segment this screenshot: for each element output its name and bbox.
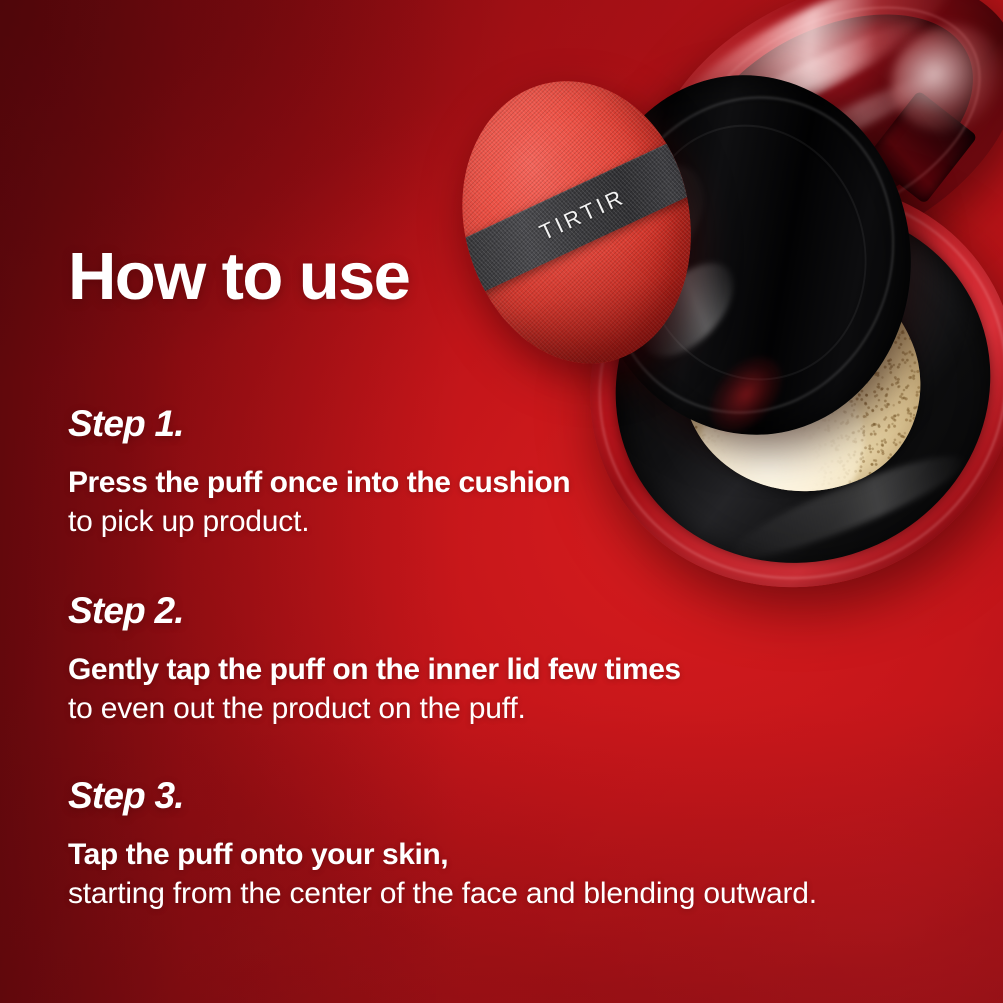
how-to-use-slide: TIRTIR How to use Step 1. Press the puff…	[0, 0, 1003, 1003]
step-3-headline: Tap the puff onto your skin,	[68, 835, 817, 874]
step-3-subline: starting from the center of the face and…	[68, 874, 817, 913]
step-1-subline: to pick up product.	[68, 502, 570, 541]
step-2-block: Step 2. Gently tap the puff on the inner…	[68, 592, 681, 728]
step-1-label: Step 1.	[68, 405, 570, 444]
step-1-headline: Press the puff once into the cushion	[68, 463, 570, 502]
step-2-label: Step 2.	[68, 592, 681, 631]
step-1-block: Step 1. Press the puff once into the cus…	[68, 405, 570, 541]
step-2-subline: to even out the product on the puff.	[68, 689, 681, 728]
step-3-label: Step 3.	[68, 777, 817, 816]
instruction-copy-block: How to use Step 1. Press the puff once i…	[68, 0, 948, 1003]
page-title: How to use	[68, 243, 409, 310]
step-2-headline: Gently tap the puff on the inner lid few…	[68, 650, 681, 689]
step-3-block: Step 3. Tap the puff onto your skin, sta…	[68, 777, 817, 913]
